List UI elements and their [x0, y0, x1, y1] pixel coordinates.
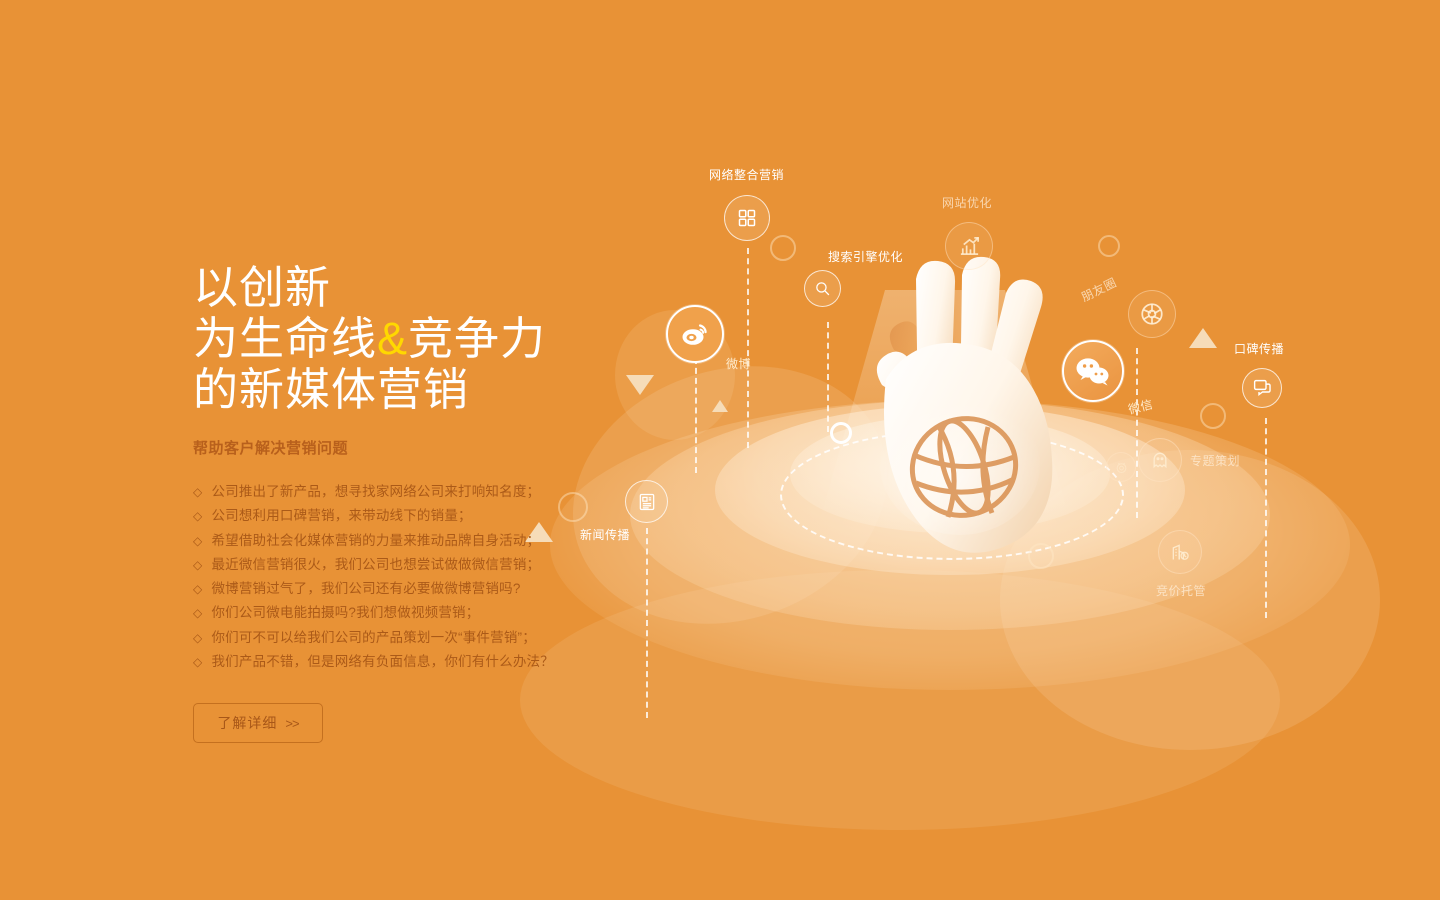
list-item-text: 最近微信营销很火，我们公司也想尝试做做微信营销；	[211, 553, 540, 577]
hero-banner: 网络整合营销 搜索引擎优化 网站优化	[0, 0, 1440, 900]
diamond-bullet-icon: ◇	[193, 529, 202, 553]
decorative-triangle	[1189, 328, 1217, 348]
aperture-icon	[1128, 290, 1176, 338]
grid-blocks-icon	[724, 195, 770, 241]
node-label: 竞价托管	[1156, 582, 1206, 599]
decorative-triangle	[712, 400, 728, 412]
bar-chart-arrow-icon	[945, 222, 993, 270]
diamond-bullet-icon: ◇	[193, 626, 202, 650]
decorative-ring	[770, 235, 796, 261]
node-bidding-hosting[interactable]: 竞价托管	[1158, 530, 1202, 574]
node-topic-planning[interactable]: 专题策划	[1138, 438, 1182, 482]
list-item-text: 我们产品不错，但是网络有负面信息，你们有什么办法？	[211, 650, 554, 674]
bidding-chart-icon	[1158, 530, 1202, 574]
node-label: 搜索引擎优化	[828, 248, 903, 265]
node-website-optimization[interactable]: 网站优化	[945, 222, 993, 270]
mascot-icon	[1138, 438, 1182, 482]
hand-graphic	[842, 255, 1072, 555]
list-item-text: 公司推出了新产品，想寻找家网络公司来打响知名度；	[211, 480, 540, 504]
list-item-text: 公司想利用口碑营销，来带动线下的销量；	[211, 504, 471, 528]
node-integrated-marketing[interactable]: 网络整合营销	[724, 195, 770, 241]
magnifier-icon	[804, 270, 841, 307]
node-wechat[interactable]: 微信	[1062, 340, 1124, 402]
wechat-icon	[1062, 340, 1124, 402]
diamond-bullet-icon: ◇	[193, 601, 202, 625]
alarm-icon	[1106, 452, 1136, 482]
list-item: ◇ 最近微信营销很火，我们公司也想尝试做做微信营销；	[193, 553, 713, 577]
list-item: ◇ 你们公司微电能拍摄吗?我们想做视频营销；	[193, 601, 713, 625]
node-label: 口碑传播	[1234, 340, 1284, 357]
chevron-right-icon: >>	[285, 716, 298, 731]
diamond-bullet-icon: ◇	[193, 650, 202, 674]
list-item-text: 微博营销过气了，我们公司还有必要做微博营销吗?	[211, 577, 520, 601]
list-item: ◇ 公司想利用口碑营销，来带动线下的销量；	[193, 504, 713, 528]
list-item: ◇ 你们可不可以给我们公司的产品策划一次“事件营销”；	[193, 626, 713, 650]
list-item: ◇ 希望借助社会化媒体营销的力量来推动品牌自身活动；	[193, 529, 713, 553]
connector-line	[1265, 418, 1267, 618]
list-item-text: 你们公司微电能拍摄吗?我们想做视频营销；	[211, 601, 479, 625]
list-item: ◇ 公司推出了新产品，想寻找家网络公司来打响知名度；	[193, 480, 713, 504]
diamond-bullet-icon: ◇	[193, 504, 202, 528]
chat-bubbles-icon	[1242, 368, 1282, 408]
node-label: 微博	[726, 355, 751, 372]
node-moments[interactable]: 朋友圈	[1128, 290, 1176, 338]
headline-line-1: 以创新	[193, 262, 713, 313]
diamond-bullet-icon: ◇	[193, 577, 202, 601]
node-label: 网站优化	[942, 194, 992, 211]
headline-line-3: 的新媒体营销	[193, 364, 713, 415]
list-item: ◇ 微博营销过气了，我们公司还有必要做微博营销吗?	[193, 577, 713, 601]
node-word-of-mouth[interactable]: 口碑传播	[1242, 368, 1282, 408]
connector-line	[1136, 348, 1138, 518]
decorative-ring	[1200, 403, 1226, 429]
diamond-bullet-icon: ◇	[193, 480, 202, 504]
hero-copy: 以创新 为生命线&竞争力 的新媒体营销 帮助客户解决营销问题 ◇ 公司推出了新产…	[193, 262, 713, 743]
ampersand-accent: &	[377, 313, 408, 364]
diamond-bullet-icon: ◇	[193, 553, 202, 577]
list-item-text: 你们可不可以给我们公司的产品策划一次“事件营销”；	[211, 626, 536, 650]
node-label: 微信	[1126, 395, 1154, 418]
node-seo[interactable]: 搜索引擎优化	[804, 270, 841, 307]
headline-line-2-part-b: 竞争力	[408, 313, 546, 364]
node-extra	[1106, 452, 1136, 482]
node-label: 网络整合营销	[709, 166, 784, 183]
list-item: ◇ 我们产品不错，但是网络有负面信息，你们有什么办法？	[193, 650, 713, 674]
list-item-text: 希望借助社会化媒体营销的力量来推动品牌自身活动；	[211, 529, 540, 553]
headline-line-2-part-a: 为生命线	[193, 313, 377, 364]
connector-line	[747, 248, 749, 448]
pain-point-list: ◇ 公司推出了新产品，想寻找家网络公司来打响知名度； ◇ 公司想利用口碑营销，来…	[193, 480, 713, 674]
decorative-ring	[1098, 235, 1120, 257]
headline-line-2: 为生命线&竞争力	[193, 313, 713, 364]
connector-line	[827, 322, 829, 432]
node-label: 朋友圈	[1078, 274, 1119, 306]
learn-more-button[interactable]: 了解详细 >>	[193, 703, 323, 743]
learn-more-label: 了解详细	[217, 713, 277, 733]
node-label: 专题策划	[1190, 452, 1240, 469]
hero-subtitle: 帮助客户解决营销问题	[193, 437, 713, 458]
